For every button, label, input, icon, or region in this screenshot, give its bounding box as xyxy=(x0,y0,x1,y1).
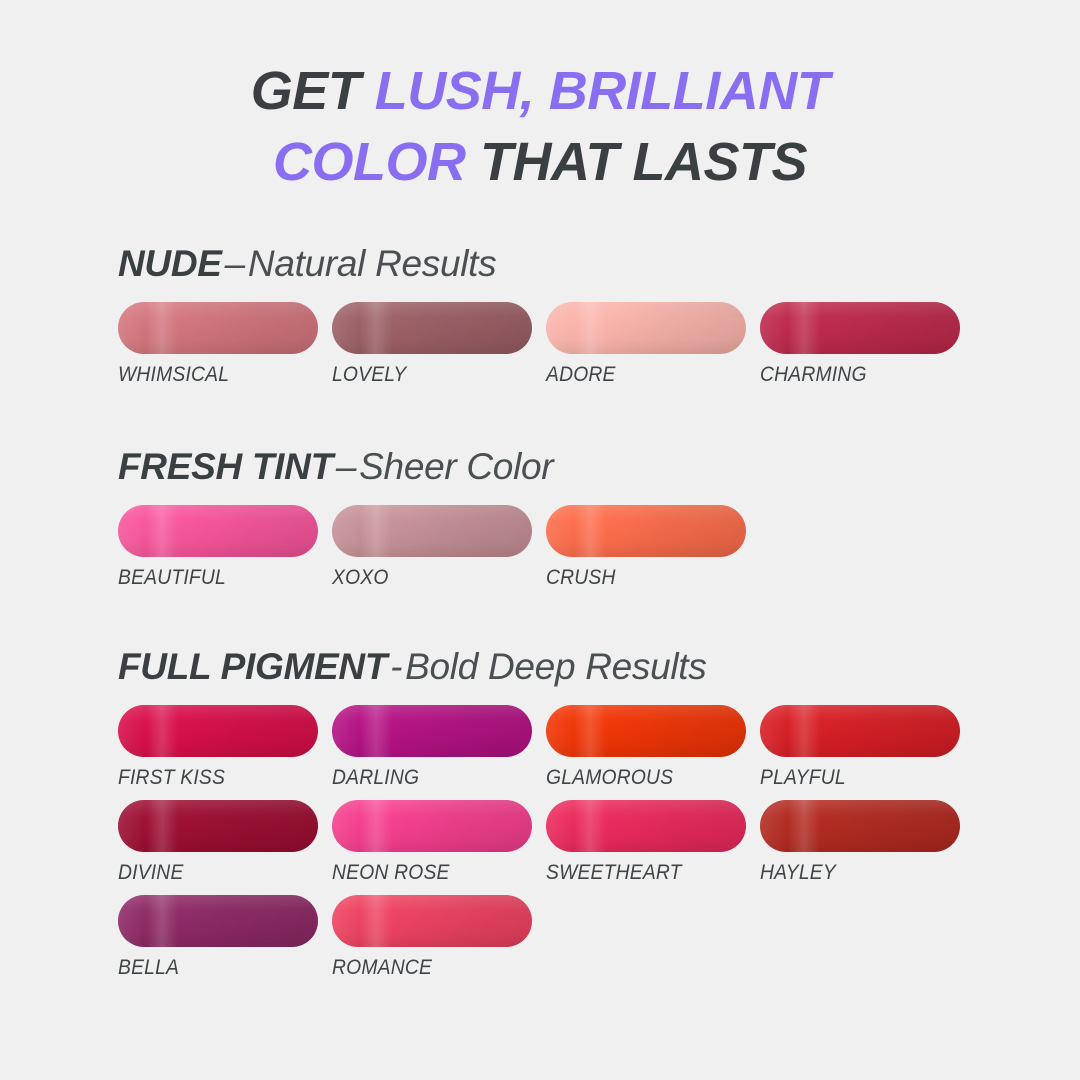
swatch-label: CHARMING xyxy=(760,363,944,387)
section-full-pigment: FULL PIGMENT-Bold Deep Results FIRST KIS… xyxy=(118,646,1018,990)
swatch-sheen-overlay xyxy=(546,505,746,557)
swatch-cell[interactable]: LOVELY xyxy=(332,302,532,387)
section-title-dash: - xyxy=(387,646,405,687)
color-swatch[interactable] xyxy=(118,895,318,947)
swatch-cell[interactable]: FIRST KISS xyxy=(118,705,318,790)
section-fresh-tint: FRESH TINT–Sheer Color BEAUTIFUL XOXO CR… xyxy=(118,446,1018,600)
swatch-sheen-overlay xyxy=(760,302,960,354)
swatch-cell[interactable]: CRUSH xyxy=(546,505,746,590)
color-swatch[interactable] xyxy=(332,302,532,354)
color-swatch[interactable] xyxy=(118,505,318,557)
swatch-cell[interactable]: CHARMING xyxy=(760,302,960,387)
swatch-sheen-overlay xyxy=(118,895,318,947)
swatch-sheen-overlay xyxy=(760,705,960,757)
color-swatch[interactable] xyxy=(760,705,960,757)
shade-chart-page: GET LUSH, BRILLIANT COLOR THAT LASTS NUD… xyxy=(0,0,1080,1080)
section-title-sub: Bold Deep Results xyxy=(405,646,706,687)
swatch-row: WHIMSICAL LOVELY ADORE CHARMING xyxy=(118,302,1018,387)
color-swatch[interactable] xyxy=(332,705,532,757)
swatch-label: HAYLEY xyxy=(760,861,944,885)
headline-that-lasts: THAT LASTS xyxy=(466,132,807,192)
swatch-cell[interactable]: BELLA xyxy=(118,895,318,980)
swatch-cell[interactable]: XOXO xyxy=(332,505,532,590)
swatch-sheen-overlay xyxy=(332,302,532,354)
section-title-full-pigment: FULL PIGMENT-Bold Deep Results xyxy=(118,646,1018,688)
section-title-strong: NUDE xyxy=(118,243,222,284)
swatch-cell[interactable]: PLAYFUL xyxy=(760,705,960,790)
color-swatch[interactable] xyxy=(760,302,960,354)
swatch-sheen-overlay xyxy=(546,800,746,852)
swatch-label: DIVINE xyxy=(118,861,302,885)
swatch-cell[interactable]: ADORE xyxy=(546,302,746,387)
swatch-label: XOXO xyxy=(332,566,516,590)
color-swatch[interactable] xyxy=(118,705,318,757)
swatch-cell[interactable]: DARLING xyxy=(332,705,532,790)
swatch-sheen-overlay xyxy=(332,505,532,557)
swatch-label: NEON ROSE xyxy=(332,861,516,885)
swatch-sheen-overlay xyxy=(118,800,318,852)
swatch-sheen-overlay xyxy=(118,302,318,354)
swatch-row: BEAUTIFUL XOXO CRUSH xyxy=(118,505,1018,590)
swatch-sheen-overlay xyxy=(332,895,532,947)
swatch-cell[interactable]: WHIMSICAL xyxy=(118,302,318,387)
section-title-dash: – xyxy=(222,243,248,284)
swatch-label: CRUSH xyxy=(546,566,730,590)
swatch-row: DIVINE NEON ROSE SWEETHEART HAYLEY xyxy=(118,800,1018,885)
swatch-label: GLAMOROUS xyxy=(546,766,730,790)
color-swatch[interactable] xyxy=(332,505,532,557)
swatch-label: BELLA xyxy=(118,956,302,980)
headline-lush-brilliant: LUSH, BRILLIANT xyxy=(375,61,829,121)
color-swatch[interactable] xyxy=(760,800,960,852)
headline-line-1: GET LUSH, BRILLIANT xyxy=(0,56,1080,127)
swatch-label: ROMANCE xyxy=(332,956,516,980)
headline-get: GET xyxy=(251,61,375,121)
color-swatch[interactable] xyxy=(546,800,746,852)
swatch-sheen-overlay xyxy=(546,302,746,354)
section-title-fresh-tint: FRESH TINT–Sheer Color xyxy=(118,446,1018,488)
section-title-strong: FULL PIGMENT xyxy=(118,646,387,687)
swatch-label: FIRST KISS xyxy=(118,766,302,790)
section-title-dash: – xyxy=(333,446,359,487)
swatch-label: DARLING xyxy=(332,766,516,790)
color-swatch[interactable] xyxy=(332,895,532,947)
swatch-label: PLAYFUL xyxy=(760,766,944,790)
color-swatch[interactable] xyxy=(332,800,532,852)
swatch-sheen-overlay xyxy=(332,800,532,852)
swatch-row: BELLA ROMANCE xyxy=(118,895,1018,980)
swatch-cell[interactable]: BEAUTIFUL xyxy=(118,505,318,590)
swatch-cell[interactable]: DIVINE xyxy=(118,800,318,885)
color-swatch[interactable] xyxy=(546,302,746,354)
color-swatch[interactable] xyxy=(118,800,318,852)
swatch-cell[interactable]: ROMANCE xyxy=(332,895,532,980)
swatch-cell[interactable]: HAYLEY xyxy=(760,800,960,885)
swatch-cell[interactable]: NEON ROSE xyxy=(332,800,532,885)
section-title-strong: FRESH TINT xyxy=(118,446,333,487)
color-swatch[interactable] xyxy=(546,705,746,757)
swatch-label: SWEETHEART xyxy=(546,861,730,885)
swatch-sheen-overlay xyxy=(760,800,960,852)
color-swatch[interactable] xyxy=(118,302,318,354)
section-title-sub: Natural Results xyxy=(248,243,496,284)
swatch-sheen-overlay xyxy=(118,705,318,757)
swatch-label: ADORE xyxy=(546,363,730,387)
page-title: GET LUSH, BRILLIANT COLOR THAT LASTS xyxy=(0,56,1080,199)
color-swatch[interactable] xyxy=(546,505,746,557)
swatch-label: LOVELY xyxy=(332,363,516,387)
swatch-cell[interactable]: SWEETHEART xyxy=(546,800,746,885)
swatch-label: WHIMSICAL xyxy=(118,363,302,387)
swatch-sheen-overlay xyxy=(546,705,746,757)
section-title-sub: Sheer Color xyxy=(359,446,553,487)
headline-line-2: COLOR THAT LASTS xyxy=(0,127,1080,198)
swatch-cell[interactable]: GLAMOROUS xyxy=(546,705,746,790)
swatch-sheen-overlay xyxy=(118,505,318,557)
section-nude: NUDE–Natural Results WHIMSICAL LOVELY AD… xyxy=(118,243,1018,397)
swatch-row: FIRST KISS DARLING GLAMOROUS PLAYFUL xyxy=(118,705,1018,790)
swatch-label: BEAUTIFUL xyxy=(118,566,302,590)
section-title-nude: NUDE–Natural Results xyxy=(118,243,1018,285)
swatch-sheen-overlay xyxy=(332,705,532,757)
headline-color: COLOR xyxy=(273,132,466,192)
